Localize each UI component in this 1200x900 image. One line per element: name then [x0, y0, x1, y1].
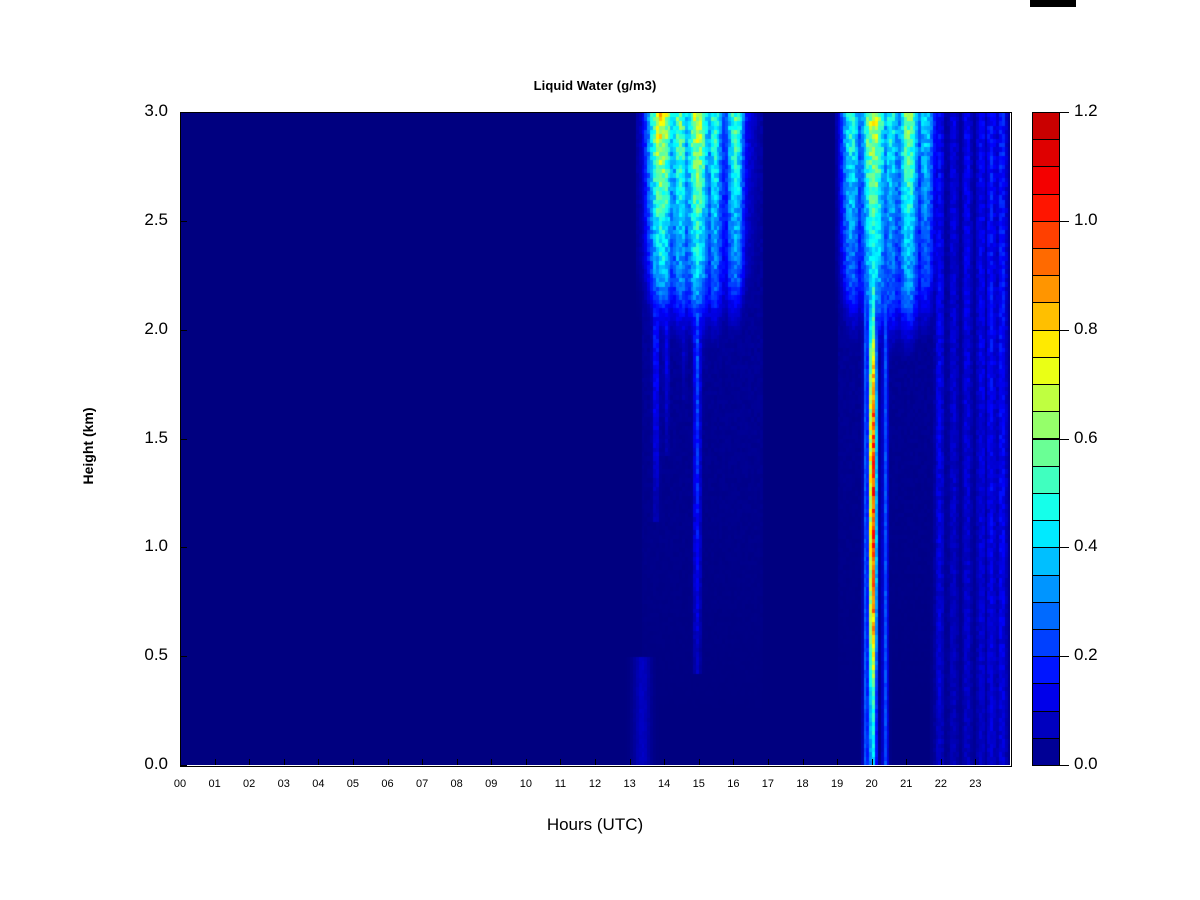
colorbar-band — [1032, 547, 1060, 575]
y-tick-mark — [181, 330, 187, 331]
colorbar-tick-label: 0.4 — [1074, 536, 1098, 556]
colorbar-band — [1032, 275, 1060, 303]
colorbar-band — [1032, 683, 1060, 711]
y-axis-label: Height (km) — [80, 356, 96, 536]
x-tick-mark — [284, 759, 285, 765]
colorbar-band — [1032, 248, 1060, 276]
y-tick-mark — [181, 547, 187, 548]
x-tick-mark — [422, 759, 423, 765]
x-tick-mark — [630, 759, 631, 765]
colorbar-band — [1032, 629, 1060, 657]
y-tick-mark — [181, 112, 187, 113]
colorbar-tick-label: 0.2 — [1074, 645, 1098, 665]
colorbar-band — [1032, 139, 1060, 167]
colorbar-tick-label: 0.0 — [1074, 754, 1098, 774]
colorbar-tick-mark — [1060, 547, 1069, 548]
colorbar-band — [1032, 330, 1060, 358]
colorbar-tick-mark — [1060, 765, 1069, 766]
x-tick-label: 23 — [955, 778, 995, 790]
x-tick-mark — [975, 759, 976, 765]
x-tick-mark — [872, 759, 873, 765]
x-tick-mark — [803, 759, 804, 765]
x-tick-mark — [249, 759, 250, 765]
colorbar-band — [1032, 711, 1060, 739]
colorbar-band — [1032, 493, 1060, 521]
x-axis-label: Hours (UTC) — [180, 815, 1010, 835]
x-tick-mark — [388, 759, 389, 765]
x-tick-mark — [457, 759, 458, 765]
x-tick-mark — [733, 759, 734, 765]
y-tick-label: 1.5 — [120, 428, 168, 448]
x-tick-mark — [768, 759, 769, 765]
x-tick-mark — [941, 759, 942, 765]
colorbar-band — [1032, 221, 1060, 249]
heatmap-canvas — [180, 112, 1010, 765]
colorbar-band — [1032, 112, 1060, 140]
colorbar-tick-mark — [1060, 112, 1069, 113]
x-tick-mark — [906, 759, 907, 765]
liquid-water-timeheight-figure: Liquid Water (g/m3) 0.00.51.01.52.02.53.… — [0, 0, 1200, 900]
colorbar-tick-mark — [1060, 656, 1069, 657]
x-tick-mark — [664, 759, 665, 765]
page-title: Liquid Water (g/m3) — [180, 78, 1010, 93]
colorbar-band — [1032, 357, 1060, 385]
x-tick-mark — [215, 759, 216, 765]
y-tick-mark — [181, 439, 187, 440]
y-tick-label: 3.0 — [120, 101, 168, 121]
x-tick-mark — [595, 759, 596, 765]
x-tick-mark — [837, 759, 838, 765]
colorbar-tick-label: 1.2 — [1074, 101, 1098, 121]
colorbar-band — [1032, 738, 1060, 766]
colorbar-tick-mark — [1060, 221, 1069, 222]
y-tick-label: 1.0 — [120, 536, 168, 556]
colorbar-tick-mark — [1060, 439, 1069, 440]
colorbar-band — [1032, 575, 1060, 603]
colorbar-band — [1032, 520, 1060, 548]
y-tick-label: 0.5 — [120, 645, 168, 665]
colorbar-band — [1032, 439, 1060, 467]
colorbar: 0.00.20.40.60.81.01.2 — [1032, 112, 1060, 765]
y-tick-label: 2.5 — [120, 210, 168, 230]
y-tick-mark — [181, 656, 187, 657]
x-tick-mark — [699, 759, 700, 765]
colorbar-band — [1032, 302, 1060, 330]
colorbar-band — [1032, 384, 1060, 412]
y-tick-mark — [181, 765, 187, 766]
heatmap-plot-area — [180, 112, 1010, 765]
x-tick-mark — [180, 759, 181, 765]
y-tick-label: 0.0 — [120, 754, 168, 774]
colorbar-band — [1032, 656, 1060, 684]
colorbar-tick-label: 1.0 — [1074, 210, 1098, 230]
y-tick-mark — [181, 221, 187, 222]
colorbar-band — [1032, 166, 1060, 194]
y-tick-label: 2.0 — [120, 319, 168, 339]
colorbar-band — [1032, 411, 1060, 439]
x-tick-mark — [318, 759, 319, 765]
x-tick-mark — [526, 759, 527, 765]
x-tick-mark — [491, 759, 492, 765]
x-tick-mark — [353, 759, 354, 765]
colorbar-tick-mark — [1060, 330, 1069, 331]
colorbar-tick-label: 0.6 — [1074, 428, 1098, 448]
colorbar-band — [1032, 602, 1060, 630]
x-tick-mark — [560, 759, 561, 765]
colorbar-band — [1032, 194, 1060, 222]
colorbar-tick-label: 0.8 — [1074, 319, 1098, 339]
colorbar-band — [1032, 466, 1060, 494]
